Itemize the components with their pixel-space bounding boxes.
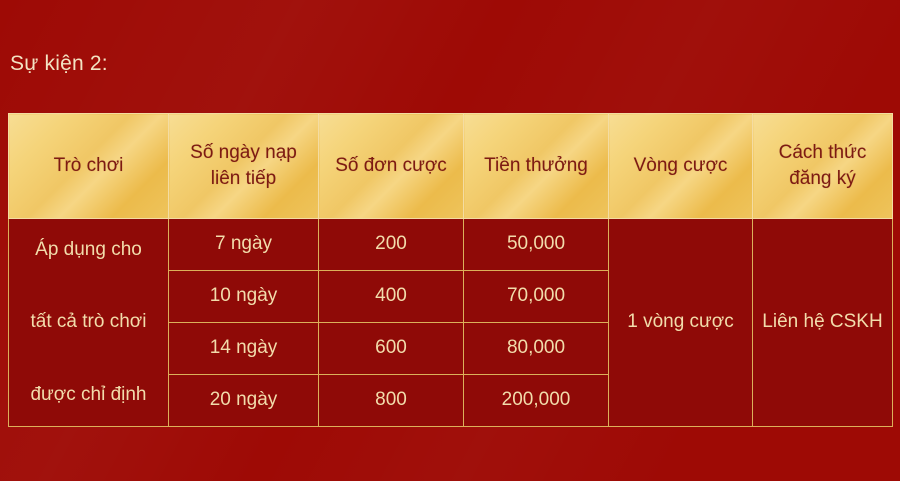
cell-bets: 600 (319, 323, 464, 375)
cell-game-scope: Áp dụng cho tất cả trò chơi được chỉ địn… (9, 219, 169, 427)
cell-bonus: 50,000 (464, 219, 609, 271)
page-title: Sự kiện 2: (10, 52, 108, 76)
cell-bets: 200 (319, 219, 464, 271)
promotion-table: Trò chơi Số ngày nạp liên tiếp Số đơn cư… (8, 113, 893, 427)
cell-days: 14 ngày (169, 323, 319, 375)
cell-register: Liên hệ CSKH (753, 219, 893, 427)
table-row: Áp dụng cho tất cả trò chơi được chỉ địn… (9, 219, 893, 271)
column-header-rollover: Vòng cược (609, 114, 753, 219)
cell-bonus: 70,000 (464, 271, 609, 323)
column-header-bets: Số đơn cược (319, 114, 464, 219)
column-header-days: Số ngày nạp liên tiếp (169, 114, 319, 219)
column-header-game: Trò chơi (9, 114, 169, 219)
cell-days: 10 ngày (169, 271, 319, 323)
cell-bets: 400 (319, 271, 464, 323)
column-header-register: Cách thức đăng ký (753, 114, 893, 219)
cell-bonus: 80,000 (464, 323, 609, 375)
cell-days: 20 ngày (169, 375, 319, 427)
table-body: Áp dụng cho tất cả trò chơi được chỉ địn… (9, 219, 893, 427)
cell-rollover: 1 vòng cược (609, 219, 753, 427)
cell-days: 7 ngày (169, 219, 319, 271)
cell-bonus: 200,000 (464, 375, 609, 427)
cell-bets: 800 (319, 375, 464, 427)
column-header-bonus: Tiền thưởng (464, 114, 609, 219)
header-row: Trò chơi Số ngày nạp liên tiếp Số đơn cư… (9, 114, 893, 219)
table-header: Trò chơi Số ngày nạp liên tiếp Số đơn cư… (9, 114, 893, 219)
